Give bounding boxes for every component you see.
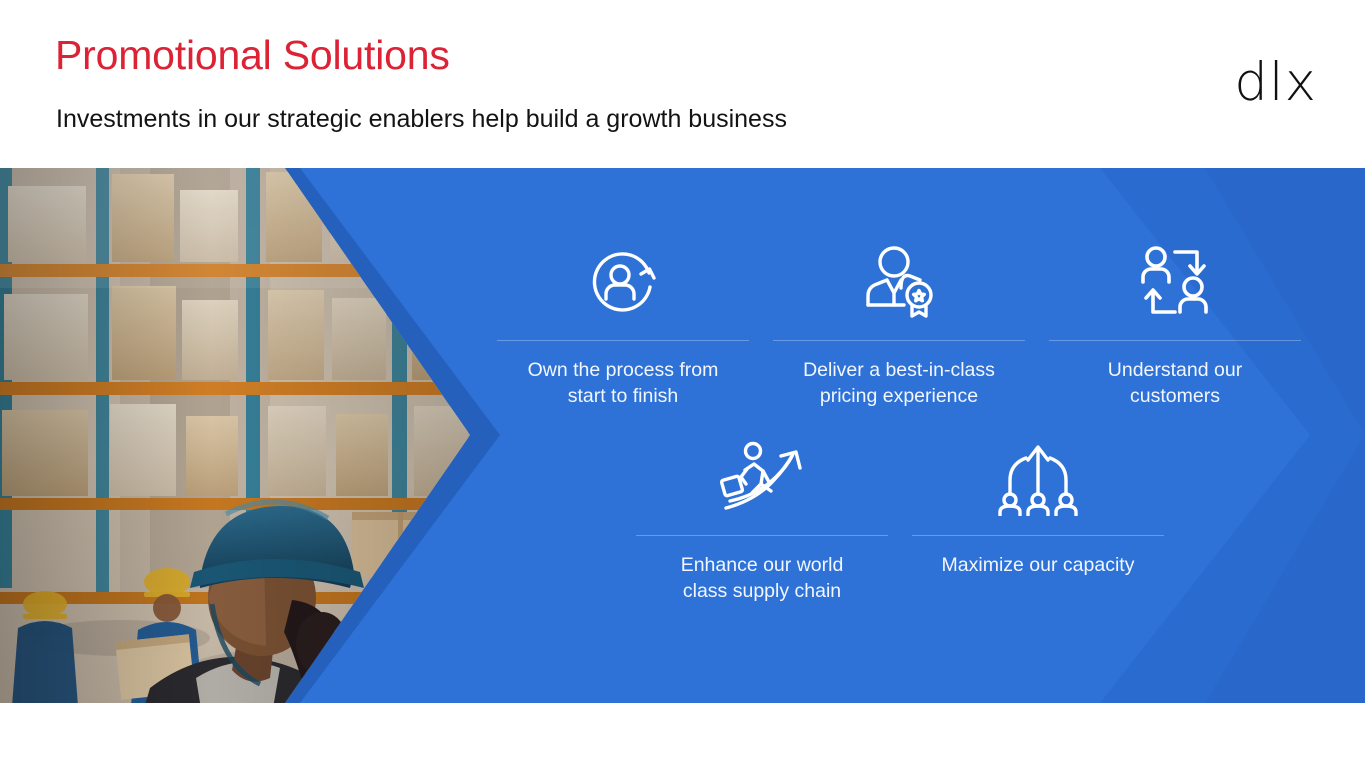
tile-caption: Own the process from start to finish: [497, 357, 749, 409]
tile-caption: Understand our customers: [1049, 357, 1301, 409]
enabler-tiles: Own the process from start to finish: [0, 168, 1365, 703]
tile-pricing-experience[interactable]: Deliver a best-in-class pricing experien…: [773, 228, 1025, 409]
tile-divider: [773, 340, 1025, 341]
person-running-up-arrow-box-icon: [636, 423, 888, 531]
tile-understand-customers[interactable]: Understand our customers: [1049, 228, 1301, 409]
user-refresh-cycle-icon: [497, 228, 749, 336]
three-people-converging-arrow-icon: [912, 423, 1164, 531]
tile-caption: Deliver a best-in-class pricing experien…: [773, 357, 1025, 409]
page-subtitle: Investments in our strategic enablers he…: [56, 104, 787, 134]
tile-supply-chain[interactable]: Enhance our world class supply chain: [636, 423, 888, 604]
tile-own-the-process[interactable]: Own the process from start to finish: [497, 228, 749, 409]
tile-caption: Maximize our capacity: [912, 552, 1164, 578]
tile-caption: Enhance our world class supply chain: [636, 552, 888, 604]
tile-divider: [497, 340, 749, 341]
content-band: Own the process from start to finish: [0, 168, 1365, 703]
slide-header: Promotional Solutions Investments in our…: [0, 0, 1365, 168]
tile-maximize-capacity[interactable]: Maximize our capacity: [912, 423, 1164, 578]
page-title: Promotional Solutions: [55, 33, 450, 78]
person-award-badge-icon: [773, 228, 1025, 336]
brand-logo: dlx: [1234, 56, 1317, 109]
two-people-exchange-arrows-icon: [1049, 228, 1301, 336]
tile-divider: [912, 535, 1164, 536]
tile-divider: [636, 535, 888, 536]
tile-divider: [1049, 340, 1301, 341]
slide: Promotional Solutions Investments in our…: [0, 0, 1365, 768]
